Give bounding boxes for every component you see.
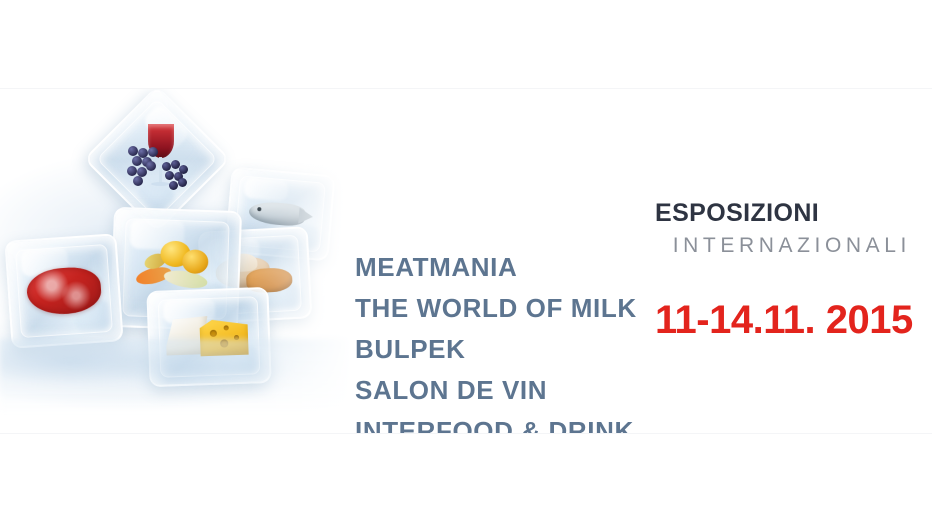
event-date: 11-14.11. 2015: [655, 300, 911, 340]
event-banner: MEATMANIA THE WORLD OF MILK BULPEK SALON…: [0, 88, 932, 434]
cheese-icon: [165, 313, 253, 362]
event-list: MEATMANIA THE WORLD OF MILK BULPEK SALON…: [355, 247, 637, 434]
headline-internazionali: INTERNAZIONALI: [655, 235, 911, 256]
headline-esposizioni: ESPOSIZIONI: [655, 201, 911, 226]
grapes-wine-glass-icon: [126, 124, 188, 194]
ice-cubes-food-image: [0, 89, 350, 433]
event-item-bulpek: BULPEK: [355, 329, 637, 370]
event-item-interfood-drink: INTERFOOD & DRINK: [355, 411, 637, 434]
ice-cube-cheese: [146, 287, 271, 387]
event-item-world-of-milk: THE WORLD OF MILK: [355, 288, 637, 329]
ice-cube-meat: [4, 233, 123, 349]
event-item-salon-de-vin: SALON DE VIN: [355, 370, 637, 411]
banner-right-column: ESPOSIZIONI INTERNAZIONALI 11-14.11. 201…: [655, 201, 911, 340]
event-item-meatmania: MEATMANIA: [355, 247, 637, 288]
banner-page: MEATMANIA THE WORLD OF MILK BULPEK SALON…: [0, 0, 932, 524]
